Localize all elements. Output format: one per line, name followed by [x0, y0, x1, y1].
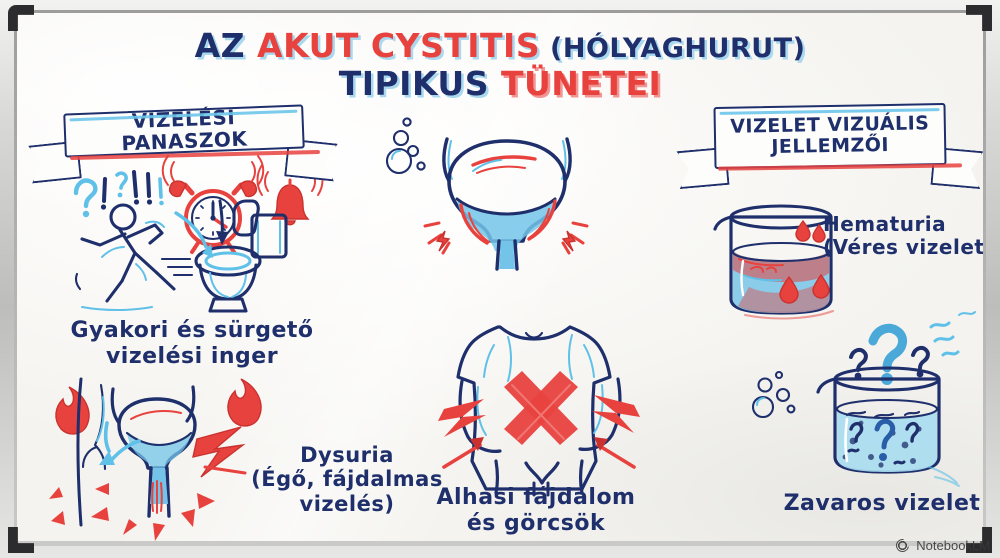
- flame-icon: [228, 379, 261, 426]
- illustration-frequency-urgency: [62, 161, 342, 319]
- banner-left-label: VIZELÉSI PANASZOK: [65, 105, 302, 157]
- flame-icon: [56, 387, 89, 434]
- banner-right-label-line2: JELLEMZŐI: [771, 134, 889, 158]
- banner-urinary-complaints: VIZELÉSI PANASZOK: [64, 109, 304, 153]
- subtitle-highlight: TÜNETEI: [501, 64, 661, 103]
- question-mark-icon: [851, 328, 928, 385]
- title-suffix: (HÓLYAGHURUT): [540, 33, 805, 64]
- ribbon-body: VIZELET VIZUÁLIS JELLEMZŐI: [713, 103, 946, 169]
- screenshot-root: AZ AKUT CYSTITIS (HÓLYAGHURUT) TIPIKUS T…: [0, 0, 1000, 558]
- caption-frequency: Gyakori és sürgető vizelési inger: [57, 318, 327, 369]
- caption-cloudy-urine: Zavaros vizelet: [777, 491, 983, 517]
- question-exclamation-marks: [101, 172, 164, 210]
- caption-line: vizelés): [300, 492, 395, 516]
- notebooklm-logo-icon: [895, 538, 910, 553]
- watermark: NotebookLM: [895, 538, 990, 553]
- alarm-clock-icon: [163, 156, 264, 252]
- caption-line: Alhasi fájdalom: [436, 485, 635, 510]
- caption-line: vizelési inger: [106, 344, 278, 369]
- title-highlight: AKUT CYSTITIS: [257, 26, 540, 65]
- caption-line: (Véres vizelet): [823, 235, 983, 259]
- watermark-label: NotebookLM: [916, 538, 990, 553]
- bubbles-icon: [387, 118, 425, 173]
- title-prefix: AZ: [195, 26, 257, 65]
- ribbon-body: VIZELÉSI PANASZOK: [63, 104, 305, 157]
- caption-line: Gyakori és sürgető: [70, 318, 313, 343]
- beaker-icon: [818, 368, 939, 472]
- red-cross-mark-icon: [504, 371, 578, 445]
- banner-urine-visual-features: VIZELET VIZUÁLIS JELLEMZŐI: [714, 105, 946, 167]
- whiteboard-surface: AZ AKUT CYSTITIS (HÓLYAGHURUT) TIPIKUS T…: [17, 13, 983, 541]
- caption-line: Hematuria: [823, 212, 946, 236]
- subtitle-prefix: TIPIKUS: [339, 64, 501, 103]
- beaker-icon: [715, 206, 831, 313]
- illustration-cloudy-urine-beaker: [809, 305, 979, 487]
- bubbles-icon: [745, 365, 805, 421]
- caption-abdominal-pain: Alhasi fájdalom és görcsök: [425, 485, 647, 536]
- squiggle-icon: [931, 312, 975, 355]
- question-mark-icon: [76, 181, 95, 218]
- caption-line: Dysuria: [300, 443, 394, 467]
- illustration-inflamed-bladder: [377, 113, 627, 273]
- whiteboard-frame: AZ AKUT CYSTITIS (HÓLYAGHURUT) TIPIKUS T…: [0, 0, 1000, 558]
- caption-hematuria: Hematuria (Véres vizelet): [823, 213, 983, 259]
- pain-burst-icon: [49, 483, 215, 541]
- running-figure-icon: [76, 205, 192, 310]
- page-title: AZ AKUT CYSTITIS (HÓLYAGHURUT) TIPIKUS T…: [17, 29, 983, 102]
- caption-line: és görcsök: [467, 511, 605, 536]
- caption-line: Zavaros vizelet: [784, 491, 981, 516]
- caption-line: (Égő, fájdalmas: [251, 467, 443, 491]
